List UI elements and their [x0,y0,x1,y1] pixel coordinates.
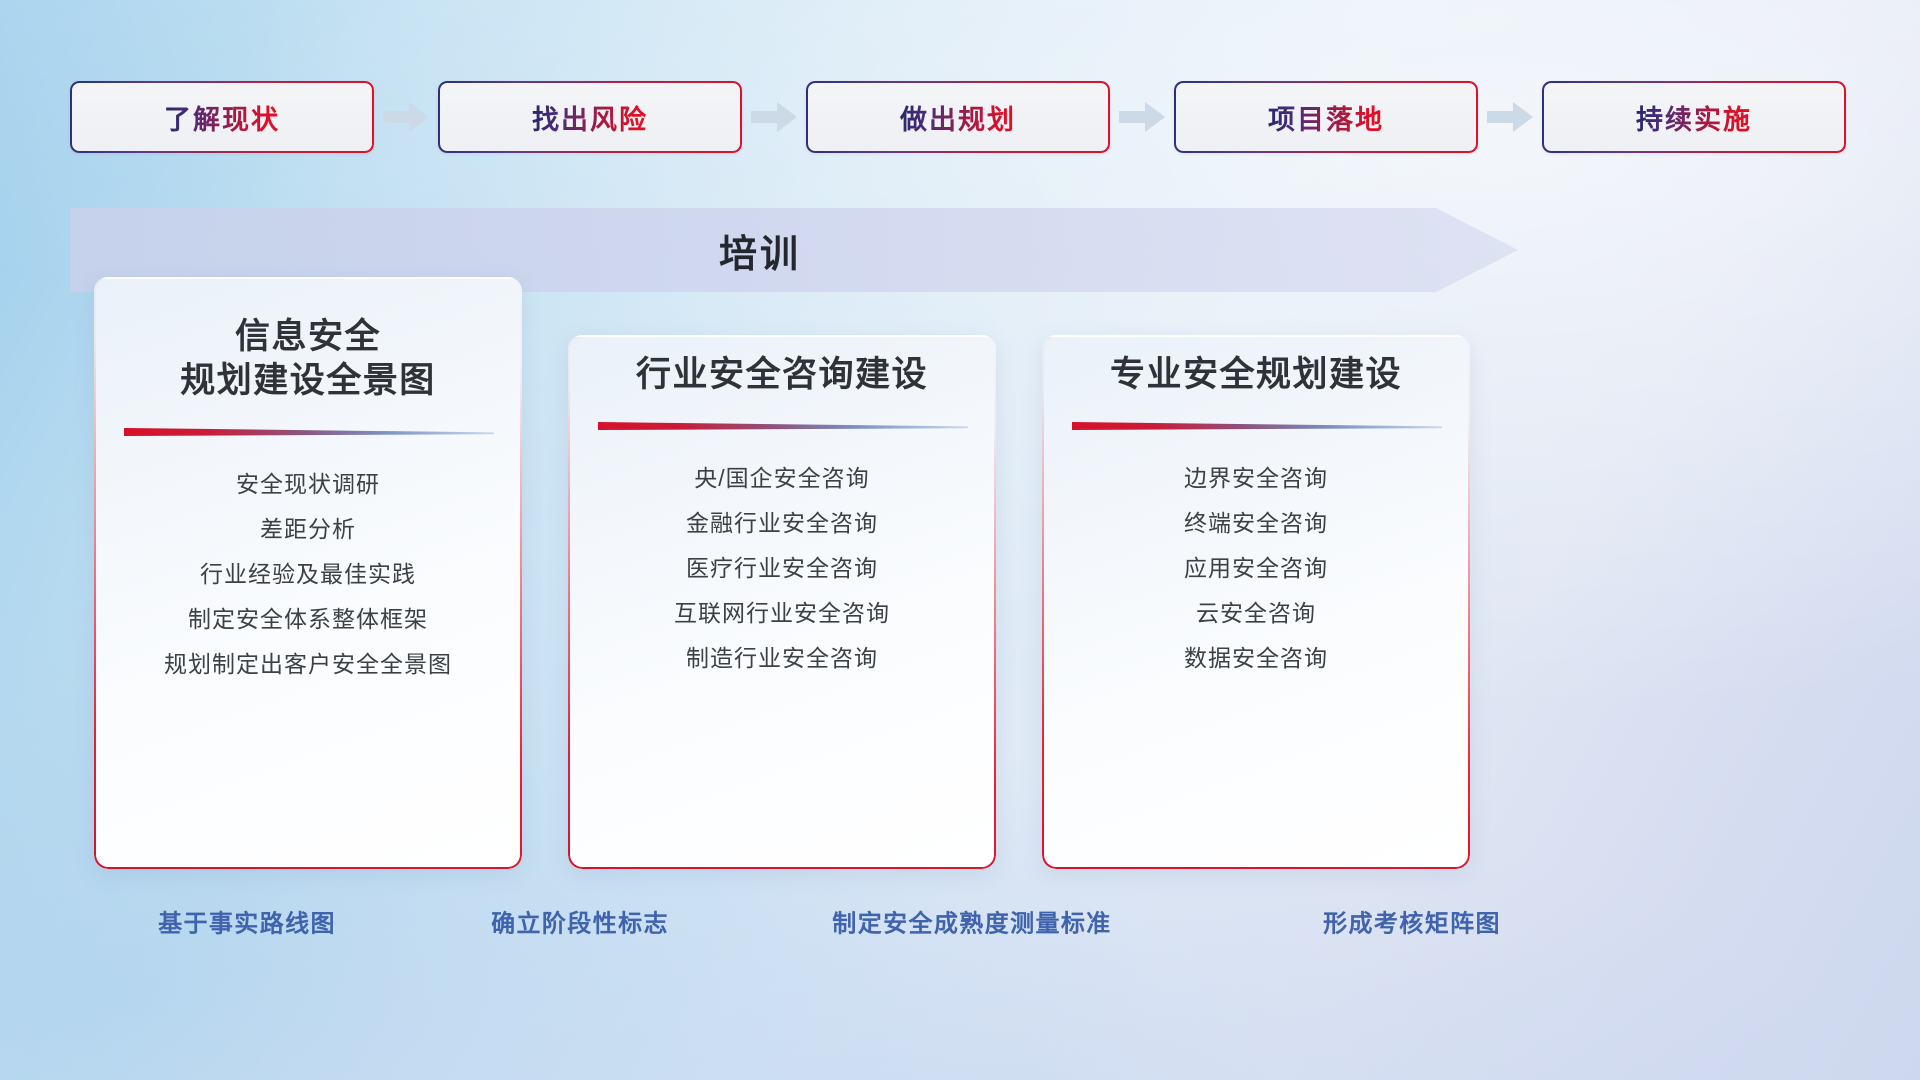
card-list-item: 规划制定出客户安全全景图 [164,642,452,687]
card-list-item: 制定安全体系整体框架 [164,597,452,642]
step-label: 做出规划 [900,98,1016,137]
step-arrow-icon-2 [742,102,806,132]
slide-canvas: 了解现状 找出风险 做出规划 项目落地 [0,0,1920,1080]
step-box-3[interactable]: 做出规划 [806,81,1110,153]
card-list-item: 数据安全咨询 [1184,636,1328,681]
card-title: 专业安全规划建设 [1110,353,1402,397]
tapered-accent-divider-icon [1070,419,1442,433]
step-box-4[interactable]: 项目落地 [1174,81,1478,153]
card-item-list: 边界安全咨询 终端安全咨询 应用安全咨询 云安全咨询 数据安全咨询 [1184,456,1328,681]
step-box-1[interactable]: 了解现状 [70,81,374,153]
footnote-label: 基于事实路线图 [158,904,336,939]
card-list-item: 互联网行业安全咨询 [674,591,890,636]
card-list-item: 应用安全咨询 [1184,546,1328,591]
card-item-list: 央/国企安全咨询 金融行业安全咨询 医疗行业安全咨询 互联网行业安全咨询 制造行… [674,456,890,681]
info-card-2[interactable]: 行业安全咨询建设 央/国企安全咨询 [568,335,996,869]
card-list-item: 制造行业安全咨询 [674,636,890,681]
info-card-3[interactable]: 专业安全规划建设 边界安全咨询 [1042,335,1470,869]
footnote-label: 形成考核矩阵图 [1323,904,1501,939]
card-list-item: 安全现状调研 [164,462,452,507]
card-list-item: 终端安全咨询 [1184,501,1328,546]
card-list-item: 金融行业安全咨询 [674,501,890,546]
step-box-2[interactable]: 找出风险 [438,81,742,153]
step-label: 持续实施 [1636,98,1752,137]
step-box-5[interactable]: 持续实施 [1542,81,1846,153]
info-card-1[interactable]: 信息安全 规划建设全景图 安全现状调研 [94,277,522,869]
card-title: 行业安全咨询建设 [636,353,928,397]
step-label: 找出风险 [532,98,648,137]
tapered-accent-divider-icon [122,425,494,439]
footnote-row: 基于事实路线图 确立阶段性标志 制定安全成熟度测量标准 形成考核矩阵图 [0,921,1920,961]
card-title: 信息安全 规划建设全景图 [180,315,436,403]
step-arrow-icon-4 [1478,102,1542,132]
card-list-item: 差距分析 [164,507,452,552]
card-list-item: 行业经验及最佳实践 [164,552,452,597]
card-list-item: 央/国企安全咨询 [674,456,890,501]
step-label: 项目落地 [1268,98,1384,137]
card-list-item: 医疗行业安全咨询 [674,546,890,591]
step-arrow-icon-1 [374,102,438,132]
card-item-list: 安全现状调研 差距分析 行业经验及最佳实践 制定安全体系整体框架 规划制定出客户… [164,462,452,687]
step-label: 了解现状 [164,98,280,137]
footnote-label: 确立阶段性标志 [491,904,669,939]
footnote-label: 制定安全成熟度测量标准 [832,904,1111,939]
tapered-accent-divider-icon [596,419,968,433]
card-list-item: 云安全咨询 [1184,591,1328,636]
step-arrow-icon-3 [1110,102,1174,132]
card-list-item: 边界安全咨询 [1184,456,1328,501]
process-step-row: 了解现状 找出风险 做出规划 项目落地 [70,81,1850,153]
